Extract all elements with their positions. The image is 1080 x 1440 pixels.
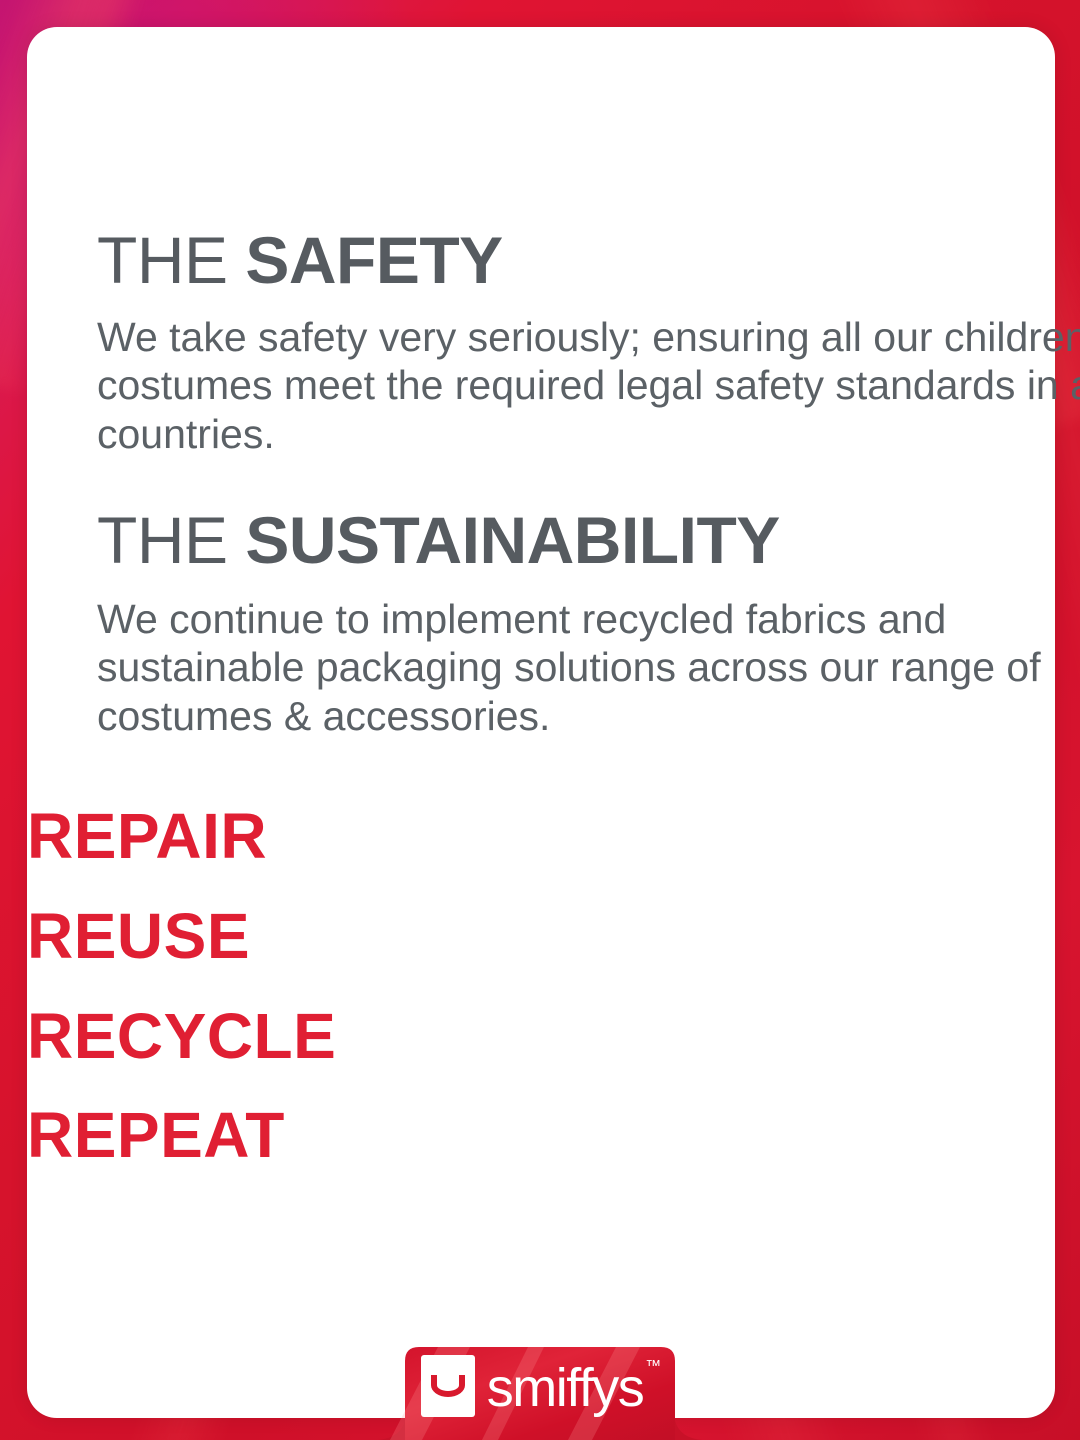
sustainability-heading-emphasis: SUSTAINABILITY xyxy=(245,503,779,577)
smile-curve xyxy=(431,1375,465,1397)
logo-wordmark-text: smiffys xyxy=(487,1358,644,1418)
smile-icon xyxy=(421,1355,475,1417)
safety-heading-prefix: THE xyxy=(97,223,245,297)
slogan-line-repeat: REPEAT xyxy=(27,1086,1055,1186)
trademark-icon: ™ xyxy=(645,1359,661,1375)
safety-body-text: We take safety very seriously; ensuring … xyxy=(97,313,1080,458)
logo-lockup: smiffys™ xyxy=(378,1355,702,1417)
slogan-line-repair: REPAIR xyxy=(27,787,1055,887)
content-card: THE SAFETY We take safety very seriously… xyxy=(27,27,1055,1418)
brand-logo-tab: smiffys™ xyxy=(378,1335,702,1440)
safety-heading: THE SAFETY xyxy=(97,227,1080,293)
slogan-block: REPAIR REUSE RECYCLE REPEAT xyxy=(27,787,1055,1186)
sustainability-body-text: We continue to implement recycled fabric… xyxy=(97,595,1080,740)
sustainability-heading-prefix: THE xyxy=(97,503,245,577)
section-sustainability: THE SUSTAINABILITY We continue to implem… xyxy=(27,507,1080,740)
slogan-line-recycle: RECYCLE xyxy=(27,987,1055,1087)
logo-wordmark: smiffys™ xyxy=(487,1361,660,1415)
slogan-line-reuse: REUSE xyxy=(27,887,1055,987)
sustainability-heading: THE SUSTAINABILITY xyxy=(97,507,1080,573)
section-safety: THE SAFETY We take safety very seriously… xyxy=(27,227,1080,458)
poster: THE SAFETY We take safety very seriously… xyxy=(0,0,1080,1440)
safety-heading-emphasis: SAFETY xyxy=(245,223,502,297)
